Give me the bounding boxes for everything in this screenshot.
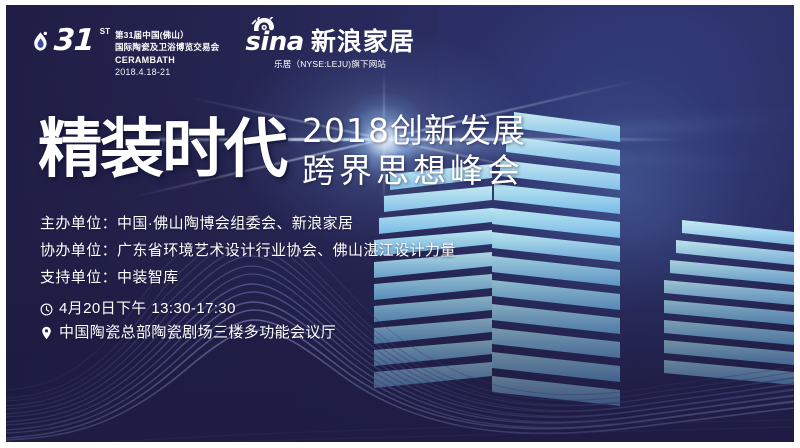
sina-cn-name: 新浪家居 bbox=[311, 29, 415, 55]
organizer-line: 主办单位：中国·佛山陶博会组委会、新浪家居 bbox=[40, 210, 456, 237]
event-info: 主办单位：中国·佛山陶博会组委会、新浪家居 协办单位：广东省环境艺术设计行业协会… bbox=[40, 210, 456, 345]
poster-title: 精装时代 2018创新发展 跨界思想峰会 bbox=[38, 109, 526, 191]
cerambath-cn-line2: 国际陶瓷及卫浴博览交易会 bbox=[115, 42, 219, 54]
cerambath-cn-line1: 第31届中国(佛山） bbox=[115, 30, 219, 42]
title-sub-line1: 2018创新发展 bbox=[302, 111, 526, 151]
poster-frame: 31 ST 第31届中国(佛山） 国际陶瓷及卫浴博览交易会 CERAMBATH … bbox=[0, 0, 800, 448]
event-location-row: 中国陶瓷总部陶瓷剧场三楼多功能会议厅 bbox=[40, 321, 456, 345]
event-time-text: 4月20日下午 13:30-17:30 bbox=[59, 297, 236, 321]
cerambath-logo: 31 ST 第31届中国(佛山） 国际陶瓷及卫浴博览交易会 CERAMBATH … bbox=[32, 27, 219, 78]
cerambath-en-name: CERAMBATH bbox=[115, 54, 219, 66]
title-sub-line2: 跨界思想峰会 bbox=[302, 151, 526, 191]
sina-logo: sina 新浪家居 乐居（NYSE:LEJU)旗下网站 bbox=[245, 29, 414, 70]
sina-wordmark: sina bbox=[245, 29, 303, 55]
event-location-text: 中国陶瓷总部陶瓷剧场三楼多功能会议厅 bbox=[59, 321, 336, 345]
edition-number: 31 bbox=[53, 27, 95, 55]
header-logos: 31 ST 第31届中国(佛山） 国际陶瓷及卫浴博览交易会 CERAMBATH … bbox=[32, 27, 415, 78]
supporter-line: 支持单位：中装智库 bbox=[40, 264, 456, 291]
clock-icon bbox=[40, 303, 53, 316]
title-main: 精装时代 bbox=[38, 114, 286, 186]
co-organizer-line: 协办单位：广东省环境艺术设计行业协会、佛山湛江设计力量 bbox=[40, 237, 456, 264]
event-poster: 31 ST 第31届中国(佛山） 国际陶瓷及卫浴博览交易会 CERAMBATH … bbox=[6, 5, 794, 442]
cerambath-date-range: 2018.4.18-21 bbox=[115, 66, 219, 78]
flame-icon bbox=[32, 31, 49, 53]
map-pin-icon bbox=[40, 326, 53, 340]
edition-suffix: ST bbox=[100, 27, 110, 36]
sina-sub-text: 乐居（NYSE:LEJU)旗下网站 bbox=[245, 58, 414, 70]
event-time-row: 4月20日下午 13:30-17:30 bbox=[40, 297, 456, 321]
